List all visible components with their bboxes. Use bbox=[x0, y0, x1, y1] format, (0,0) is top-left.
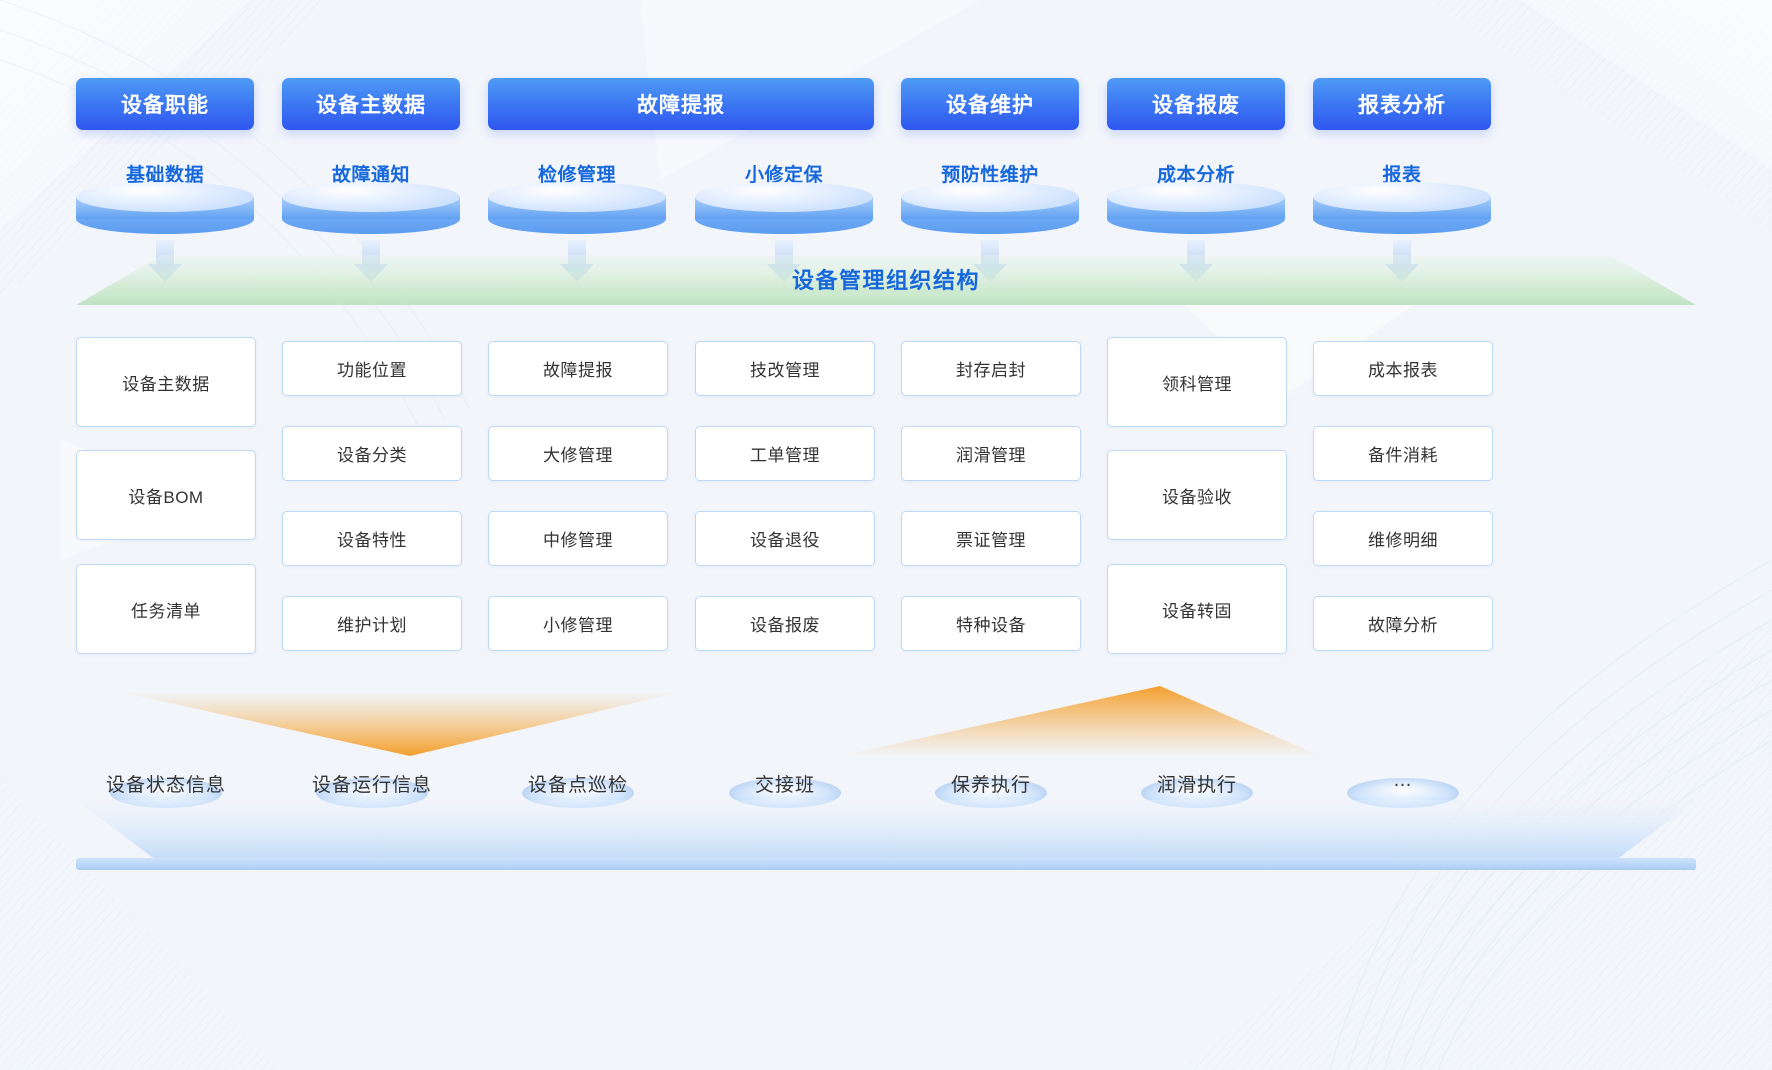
header-button-0[interactable]: 设备职能 bbox=[76, 78, 254, 130]
card-col2-1[interactable]: 设备分类 bbox=[282, 426, 462, 481]
card-label: 工单管理 bbox=[750, 441, 820, 466]
bottom-item-label: … bbox=[1325, 770, 1481, 792]
card-col7-3[interactable]: 故障分析 bbox=[1313, 596, 1493, 651]
card-col5-3[interactable]: 特种设备 bbox=[901, 596, 1081, 651]
card-label: 故障分析 bbox=[1368, 611, 1438, 636]
header-button-label: 设备主数据 bbox=[316, 89, 426, 119]
header-button-3[interactable]: 设备维护 bbox=[901, 78, 1079, 130]
card-col4-2[interactable]: 设备退役 bbox=[695, 511, 875, 566]
cylinder-top bbox=[488, 182, 666, 212]
bottom-item-label: 保养执行 bbox=[913, 770, 1069, 797]
card-col5-1[interactable]: 润滑管理 bbox=[901, 426, 1081, 481]
cylinder-top bbox=[76, 182, 254, 212]
card-label: 封存启封 bbox=[956, 356, 1026, 381]
card-col3-1[interactable]: 大修管理 bbox=[488, 426, 668, 481]
card-label: 领科管理 bbox=[1162, 370, 1232, 395]
cylinder-top bbox=[282, 182, 460, 212]
card-label: 设备验收 bbox=[1162, 483, 1232, 508]
orange-chevrons bbox=[120, 660, 1320, 770]
cylinder-1 bbox=[282, 182, 460, 234]
card-col6-2[interactable]: 设备转固 bbox=[1107, 564, 1287, 654]
bottom-item-label: 交接班 bbox=[707, 770, 863, 797]
card-label: 设备转固 bbox=[1162, 597, 1232, 622]
card-col6-0[interactable]: 领科管理 bbox=[1107, 337, 1287, 427]
card-label: 任务清单 bbox=[131, 597, 201, 622]
card-label: 成本报表 bbox=[1368, 356, 1438, 381]
cylinder-6 bbox=[1313, 182, 1491, 234]
cylinder-top bbox=[1107, 182, 1285, 212]
card-label: 小修管理 bbox=[543, 611, 613, 636]
bottom-item-label: 设备状态信息 bbox=[88, 770, 244, 797]
bottom-platform bbox=[76, 800, 1696, 900]
card-label: 特种设备 bbox=[956, 611, 1026, 636]
card-label: 功能位置 bbox=[337, 356, 407, 381]
bottom-item-label: 设备运行信息 bbox=[294, 770, 450, 797]
bottom-item-label: 设备点巡检 bbox=[500, 770, 656, 797]
card-label: 设备BOM bbox=[128, 483, 203, 508]
header-button-5[interactable]: 报表分析 bbox=[1313, 78, 1491, 130]
cylinder-5 bbox=[1107, 182, 1285, 234]
card-col1-0[interactable]: 设备主数据 bbox=[76, 337, 256, 427]
cylinder-3 bbox=[695, 182, 873, 234]
card-label: 维护计划 bbox=[337, 611, 407, 636]
card-label: 大修管理 bbox=[543, 441, 613, 466]
header-button-1[interactable]: 设备主数据 bbox=[282, 78, 460, 130]
card-label: 润滑管理 bbox=[956, 441, 1026, 466]
card-label: 维修明细 bbox=[1368, 526, 1438, 551]
card-col5-0[interactable]: 封存启封 bbox=[901, 341, 1081, 396]
header-button-label: 设备职能 bbox=[121, 89, 209, 119]
cylinder-top bbox=[1313, 182, 1491, 212]
cylinder-4 bbox=[901, 182, 1079, 234]
card-col7-2[interactable]: 维修明细 bbox=[1313, 511, 1493, 566]
card-col3-0[interactable]: 故障提报 bbox=[488, 341, 668, 396]
card-label: 票证管理 bbox=[956, 526, 1026, 551]
card-label: 技改管理 bbox=[750, 356, 820, 381]
card-label: 备件消耗 bbox=[1368, 441, 1438, 466]
card-col4-1[interactable]: 工单管理 bbox=[695, 426, 875, 481]
card-col1-2[interactable]: 任务清单 bbox=[76, 564, 256, 654]
header-button-label: 设备维护 bbox=[946, 89, 1034, 119]
card-label: 故障提报 bbox=[543, 356, 613, 381]
card-col3-3[interactable]: 小修管理 bbox=[488, 596, 668, 651]
card-col3-2[interactable]: 中修管理 bbox=[488, 511, 668, 566]
header-button-label: 设备报废 bbox=[1152, 89, 1240, 119]
cylinder-0 bbox=[76, 182, 254, 234]
diagram-stage: 设备职能 设备主数据 故障提报 设备维护 设备报废 报表分析 基础数据 故障通知… bbox=[0, 0, 1772, 1070]
card-col7-1[interactable]: 备件消耗 bbox=[1313, 426, 1493, 481]
card-col5-2[interactable]: 票证管理 bbox=[901, 511, 1081, 566]
card-col4-0[interactable]: 技改管理 bbox=[695, 341, 875, 396]
header-button-label: 故障提报 bbox=[637, 89, 725, 119]
band-label: 设备管理组织结构 bbox=[792, 263, 980, 295]
card-label: 设备主数据 bbox=[122, 370, 210, 395]
card-label: 设备退役 bbox=[750, 526, 820, 551]
organization-band: 设备管理组织结构 bbox=[76, 255, 1696, 305]
card-col2-3[interactable]: 维护计划 bbox=[282, 596, 462, 651]
header-button-4[interactable]: 设备报废 bbox=[1107, 78, 1285, 130]
card-col2-2[interactable]: 设备特性 bbox=[282, 511, 462, 566]
cylinder-2 bbox=[488, 182, 666, 234]
card-label: 设备报废 bbox=[750, 611, 820, 636]
cylinder-top bbox=[695, 182, 873, 212]
card-label: 中修管理 bbox=[543, 526, 613, 551]
card-label: 设备特性 bbox=[337, 526, 407, 551]
header-button-label: 报表分析 bbox=[1358, 89, 1446, 119]
cylinder-top bbox=[901, 182, 1079, 212]
card-col1-1[interactable]: 设备BOM bbox=[76, 450, 256, 540]
card-label: 设备分类 bbox=[337, 441, 407, 466]
card-col2-0[interactable]: 功能位置 bbox=[282, 341, 462, 396]
card-col7-0[interactable]: 成本报表 bbox=[1313, 341, 1493, 396]
card-col6-1[interactable]: 设备验收 bbox=[1107, 450, 1287, 540]
header-button-2[interactable]: 故障提报 bbox=[488, 78, 874, 130]
bottom-item-label: 润滑执行 bbox=[1119, 770, 1275, 797]
card-col4-3[interactable]: 设备报废 bbox=[695, 596, 875, 651]
